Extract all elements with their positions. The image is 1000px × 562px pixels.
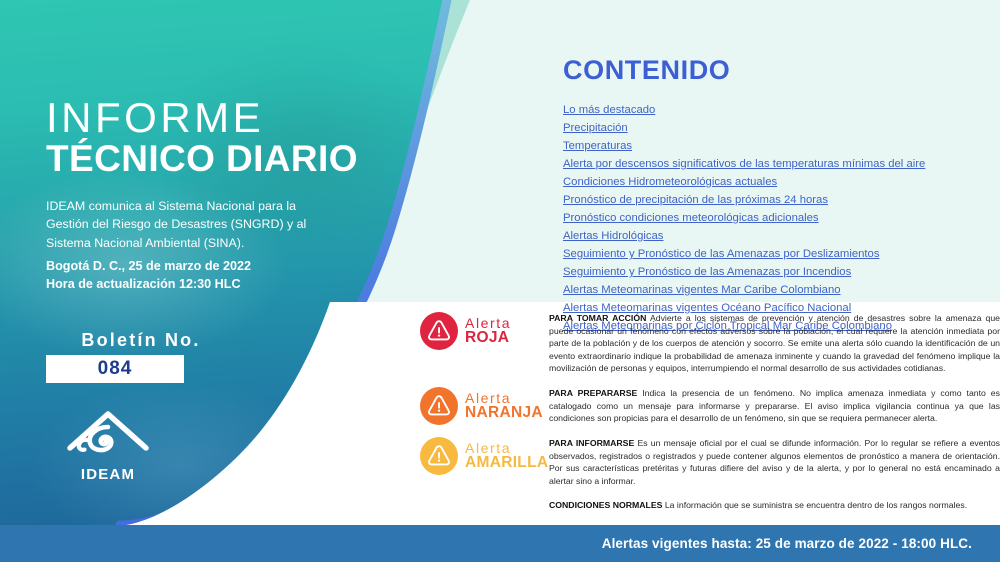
- alert-level: ROJA: [465, 330, 511, 346]
- page-title-line1: INFORME: [46, 97, 264, 139]
- ideam-logo: IDEAM: [48, 408, 168, 483]
- bulletin-number: 084: [98, 358, 133, 380]
- contenido-link[interactable]: Temperaturas: [563, 139, 632, 154]
- contenido-list-item: Alertas Hidrológicas: [563, 226, 983, 244]
- contenido-link[interactable]: Alertas Hidrológicas: [563, 229, 663, 244]
- alert-badge: AlertaNARANJA: [420, 387, 532, 425]
- alert-level: AMARILLA: [465, 455, 548, 471]
- alert-description-heading: CONDICIONES NORMALES: [549, 500, 662, 510]
- alert-description-body: La información que se suministra se encu…: [662, 500, 967, 510]
- legend-row: CONDICIONES NORMALES La información que …: [420, 499, 1000, 512]
- contenido-link[interactable]: Pronóstico condiciones meteorológicas ad…: [563, 211, 819, 226]
- warning-triangle-icon: [420, 437, 458, 475]
- contenido-list-item: Alerta por descensos significativos de l…: [563, 154, 983, 172]
- contenido-list-item: Condiciones Hidrometeorológicas actuales: [563, 172, 983, 190]
- contenido-list-item: Alertas Meteomarinas vigentes Mar Caribe…: [563, 280, 983, 298]
- alert-badge-text: AlertaNARANJA: [465, 391, 543, 421]
- warning-triangle-icon: [420, 387, 458, 425]
- alert-description-heading: PARA PREPARARSE: [549, 388, 637, 398]
- date-block: Bogotá D. C., 25 de marzo de 2022 Hora d…: [46, 257, 346, 294]
- alert-word: Alerta: [465, 391, 543, 405]
- contenido-link[interactable]: Seguimiento y Pronóstico de las Amenazas…: [563, 247, 879, 262]
- legend-row: AlertaROJAPARA TOMAR ACCIÓN Advierte a l…: [420, 312, 1000, 375]
- contenido-link[interactable]: Lo más destacado: [563, 103, 655, 118]
- intro-paragraph: IDEAM comunica al Sistema Nacional para …: [46, 197, 316, 252]
- legend-row: AlertaNARANJAPARA PREPARARSE Indica la p…: [420, 387, 1000, 425]
- update-time: Hora de actualización 12:30 HLC: [46, 275, 346, 293]
- legend-row: AlertaAMARILLAPARA INFORMARSE Es un mens…: [420, 437, 1000, 487]
- contenido-list-item: Temperaturas: [563, 136, 983, 154]
- alert-description: PARA INFORMARSE Es un mensaje oficial po…: [549, 437, 1000, 487]
- alert-badge: AlertaROJA: [420, 312, 532, 350]
- warning-triangle-icon: [420, 387, 458, 425]
- alert-level: NARANJA: [465, 405, 543, 421]
- contenido-list-item: Seguimiento y Pronóstico de las Amenazas…: [563, 244, 983, 262]
- footer-bar: Alertas vigentes hasta: 25 de marzo de 2…: [0, 525, 1000, 562]
- alert-word: Alerta: [465, 441, 548, 455]
- contenido-link[interactable]: Alerta por descensos significativos de l…: [563, 157, 925, 172]
- alert-description-heading: PARA INFORMARSE: [549, 438, 634, 448]
- bulletin-label: Boletín No.: [46, 330, 236, 351]
- alert-badge-text: AlertaAMARILLA: [465, 441, 548, 471]
- contenido-link[interactable]: Pronóstico de precipitación de las próxi…: [563, 193, 828, 208]
- alert-description: PARA TOMAR ACCIÓN Advierte a los sistema…: [549, 312, 1000, 375]
- contenido-section: CONTENIDO Lo más destacadoPrecipitaciónT…: [563, 55, 983, 334]
- contenido-list-item: Seguimiento y Pronóstico de las Amenazas…: [563, 262, 983, 280]
- alert-legend: AlertaROJAPARA TOMAR ACCIÓN Advierte a l…: [420, 312, 1000, 512]
- city-date: Bogotá D. C., 25 de marzo de 2022: [46, 257, 346, 275]
- alert-badge-text: AlertaROJA: [465, 316, 511, 346]
- warning-triangle-icon: [420, 312, 458, 350]
- contenido-link[interactable]: Precipitación: [563, 121, 628, 136]
- alert-description: CONDICIONES NORMALES La información que …: [549, 499, 1000, 512]
- ideam-wordmark: IDEAM: [48, 466, 168, 483]
- contenido-link[interactable]: Condiciones Hidrometeorológicas actuales: [563, 175, 777, 190]
- contenido-list-item: Pronóstico condiciones meteorológicas ad…: [563, 208, 983, 226]
- left-content: INFORME TÉCNICO DIARIO IDEAM comunica al…: [0, 0, 470, 525]
- page-title-line2: TÉCNICO DIARIO: [46, 140, 358, 177]
- contenido-list-item: Pronóstico de precipitación de las próxi…: [563, 190, 983, 208]
- contenido-list-item: Lo más destacado: [563, 100, 983, 118]
- contenido-link[interactable]: Seguimiento y Pronóstico de las Amenazas…: [563, 265, 851, 280]
- contenido-title: CONTENIDO: [563, 55, 983, 86]
- alert-word: Alerta: [465, 316, 511, 330]
- footer-validity-text: Alertas vigentes hasta: 25 de marzo de 2…: [602, 536, 1000, 551]
- bulletin-number-box: 084: [46, 355, 184, 383]
- alert-description: PARA PREPARARSE Indica la presencia de u…: [549, 387, 1000, 425]
- warning-triangle-icon: [420, 437, 458, 475]
- contenido-link[interactable]: Alertas Meteomarinas vigentes Mar Caribe…: [563, 283, 841, 298]
- ideam-hurricane-roof-icon: [66, 408, 150, 460]
- contenido-link-list: Lo más destacadoPrecipitaciónTemperatura…: [563, 100, 983, 334]
- contenido-list-item: Precipitación: [563, 118, 983, 136]
- alert-description-heading: PARA TOMAR ACCIÓN: [549, 313, 646, 323]
- alert-badge: AlertaAMARILLA: [420, 437, 532, 475]
- warning-triangle-icon: [420, 312, 458, 350]
